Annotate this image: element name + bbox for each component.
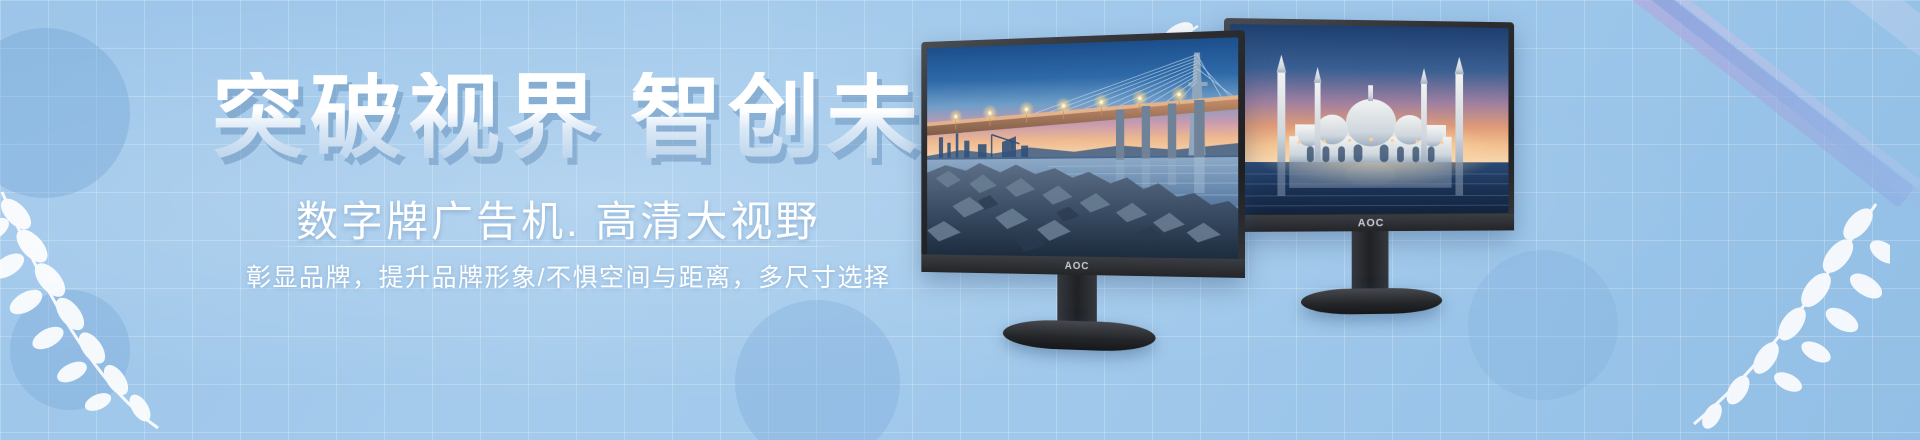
aoc-logo: AOC: [1065, 260, 1090, 272]
headline-part1: 突破视界: [212, 67, 604, 169]
monitor-left: AOC: [921, 30, 1245, 360]
screen-image-bridge: [927, 37, 1238, 259]
monitor-chin: AOC: [1224, 214, 1514, 232]
monitor-stand-base: [1003, 319, 1156, 353]
monitor-screen: [927, 37, 1238, 259]
divider: [268, 246, 848, 247]
aoc-logo: AOC: [1358, 217, 1385, 229]
promo-banner: 突破视界智创未来 数字牌广告机. 高清大视野 彰显品牌，提升品牌形象/不惧空间与…: [0, 0, 1920, 440]
monitor-screen: [1230, 24, 1508, 214]
monitor-bezel: AOC: [1224, 18, 1514, 232]
monitor-bezel: AOC: [921, 30, 1245, 278]
monitor-stand-neck: [1352, 231, 1389, 292]
monitor-stand-neck: [1057, 274, 1097, 327]
screen-image-mosque: [1230, 24, 1508, 214]
monitor-stand-base: [1301, 288, 1442, 315]
tagline: 彰显品牌，提升品牌形象/不惧空间与距离，多尺寸选择: [246, 258, 890, 294]
product-group: AOC: [880, 0, 1920, 440]
subtitle: 数字牌广告机. 高清大视野: [296, 188, 820, 249]
copy-block: 突破视界智创未来 数字牌广告机. 高清大视野 彰显品牌，提升品牌形象/不惧空间与…: [0, 0, 900, 440]
monitor-right: AOC: [1224, 18, 1514, 330]
